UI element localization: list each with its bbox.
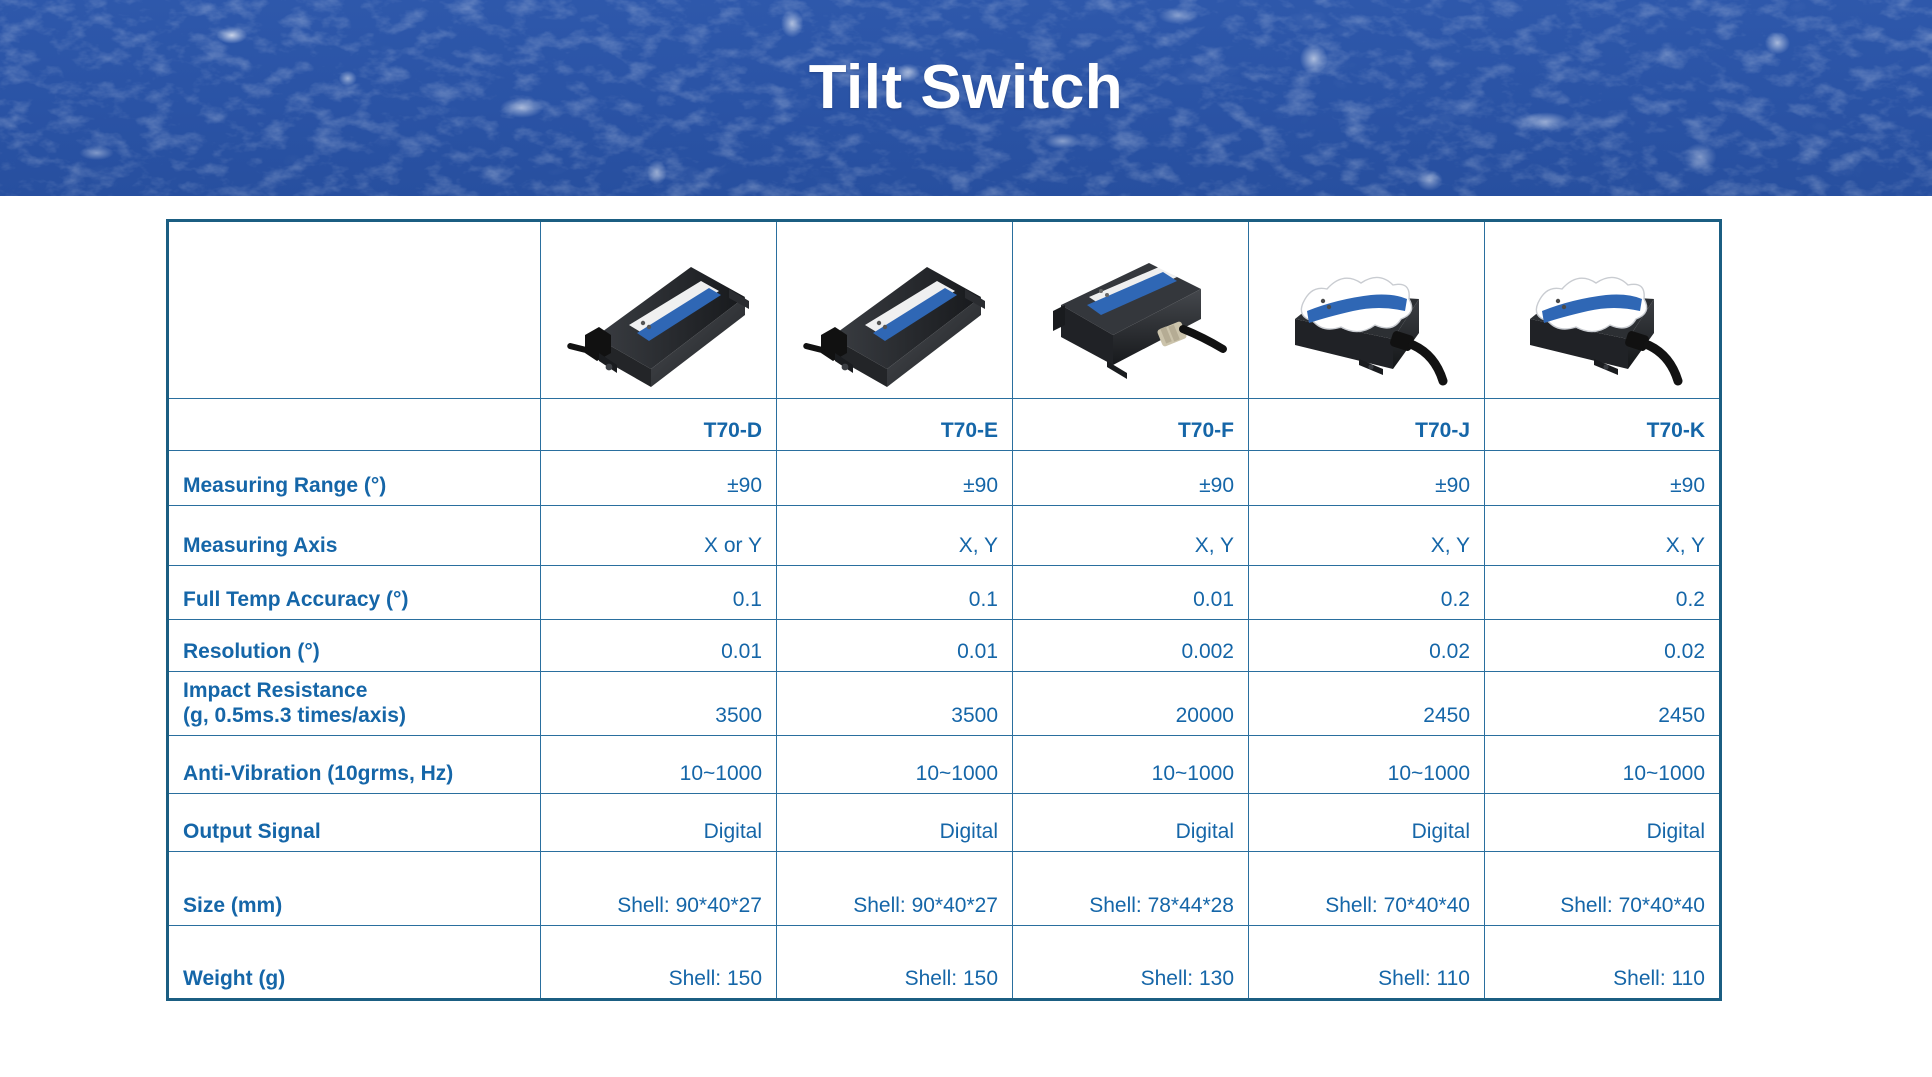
value-output-signal-1: Digital [777, 794, 1013, 852]
value-impact-resistance-0: 3500 [541, 672, 777, 736]
row-label-weight: Weight (g) [168, 926, 541, 1000]
value-measuring-range-0: ±90 [541, 451, 777, 506]
spec-table-container: T70-D T70-E T70-F T70-J T70-K Measuring … [166, 219, 1719, 1001]
value-anti-vibration-4: 10~1000 [1485, 736, 1721, 794]
value-weight-0: Shell: 150 [541, 926, 777, 1000]
value-size-4: Shell: 70*40*40 [1485, 852, 1721, 926]
value-full-temp-accuracy-4: 0.2 [1485, 566, 1721, 620]
value-weight-1: Shell: 150 [777, 926, 1013, 1000]
value-full-temp-accuracy-1: 0.1 [777, 566, 1013, 620]
value-anti-vibration-2: 10~1000 [1013, 736, 1249, 794]
tilt-switch-t70j-photo [1267, 241, 1467, 391]
value-resolution-0: 0.01 [541, 620, 777, 672]
image-row-blank-cell [168, 221, 541, 399]
row-label-resolution: Resolution (°) [168, 620, 541, 672]
value-measuring-range-3: ±90 [1249, 451, 1485, 506]
value-full-temp-accuracy-3: 0.2 [1249, 566, 1485, 620]
value-measuring-axis-0: X or Y [541, 506, 777, 566]
tilt-switch-t70d-photo [559, 241, 759, 391]
value-weight-3: Shell: 110 [1249, 926, 1485, 1000]
product-image-t70k [1485, 221, 1721, 399]
row-label-impact-resistance-line1: Impact Resistance [183, 679, 367, 702]
spec-row-full-temp-accuracy: Full Temp Accuracy (°) 0.1 0.1 0.01 0.2 … [168, 566, 1721, 620]
model-name-3: T70-J [1249, 399, 1485, 451]
page-banner: Tilt Switch [0, 0, 1932, 196]
value-output-signal-2: Digital [1013, 794, 1249, 852]
value-anti-vibration-1: 10~1000 [777, 736, 1013, 794]
spec-comparison-table: T70-D T70-E T70-F T70-J T70-K Measuring … [166, 219, 1722, 1001]
value-full-temp-accuracy-2: 0.01 [1013, 566, 1249, 620]
row-label-measuring-axis: Measuring Axis [168, 506, 541, 566]
value-anti-vibration-0: 10~1000 [541, 736, 777, 794]
model-name-2: T70-F [1013, 399, 1249, 451]
value-impact-resistance-4: 2450 [1485, 672, 1721, 736]
spec-row-measuring-axis: Measuring Axis X or Y X, Y X, Y X, Y X, … [168, 506, 1721, 566]
row-label-size: Size (mm) [168, 852, 541, 926]
value-impact-resistance-2: 20000 [1013, 672, 1249, 736]
model-name-4: T70-K [1485, 399, 1721, 451]
product-image-t70d [541, 221, 777, 399]
spec-row-measuring-range: Measuring Range (°) ±90 ±90 ±90 ±90 ±90 [168, 451, 1721, 506]
product-image-row [168, 221, 1721, 399]
value-measuring-axis-2: X, Y [1013, 506, 1249, 566]
model-row-blank-cell [168, 399, 541, 451]
value-output-signal-3: Digital [1249, 794, 1485, 852]
value-impact-resistance-1: 3500 [777, 672, 1013, 736]
model-name-row: T70-D T70-E T70-F T70-J T70-K [168, 399, 1721, 451]
product-image-t70e [777, 221, 1013, 399]
value-impact-resistance-3: 2450 [1249, 672, 1485, 736]
value-measuring-axis-4: X, Y [1485, 506, 1721, 566]
value-resolution-3: 0.02 [1249, 620, 1485, 672]
spec-row-size: Size (mm) Shell: 90*40*27 Shell: 90*40*2… [168, 852, 1721, 926]
row-label-measuring-range: Measuring Range (°) [168, 451, 541, 506]
spec-row-anti-vibration: Anti-Vibration (10grms, Hz) 10~1000 10~1… [168, 736, 1721, 794]
value-resolution-2: 0.002 [1013, 620, 1249, 672]
row-label-full-temp-accuracy: Full Temp Accuracy (°) [168, 566, 541, 620]
value-output-signal-4: Digital [1485, 794, 1721, 852]
value-measuring-axis-3: X, Y [1249, 506, 1485, 566]
spec-row-output-signal: Output Signal Digital Digital Digital Di… [168, 794, 1721, 852]
value-measuring-range-1: ±90 [777, 451, 1013, 506]
value-size-0: Shell: 90*40*27 [541, 852, 777, 926]
product-image-t70j [1249, 221, 1485, 399]
value-size-1: Shell: 90*40*27 [777, 852, 1013, 926]
tilt-switch-t70e-photo [795, 241, 995, 391]
value-weight-4: Shell: 110 [1485, 926, 1721, 1000]
tilt-switch-t70f-photo [1031, 241, 1231, 391]
row-label-output-signal: Output Signal [168, 794, 541, 852]
value-resolution-4: 0.02 [1485, 620, 1721, 672]
row-label-impact-resistance: Impact Resistance (g, 0.5ms.3 times/axis… [168, 672, 541, 736]
spec-row-resolution: Resolution (°) 0.01 0.01 0.002 0.02 0.02 [168, 620, 1721, 672]
row-label-impact-resistance-line2: (g, 0.5ms.3 times/axis) [183, 704, 406, 727]
tilt-switch-t70k-photo [1502, 241, 1702, 391]
model-name-1: T70-E [777, 399, 1013, 451]
spec-row-impact-resistance: Impact Resistance (g, 0.5ms.3 times/axis… [168, 672, 1721, 736]
value-full-temp-accuracy-0: 0.1 [541, 566, 777, 620]
value-output-signal-0: Digital [541, 794, 777, 852]
page-root: Tilt Switch [0, 0, 1932, 1077]
row-label-anti-vibration: Anti-Vibration (10grms, Hz) [168, 736, 541, 794]
value-anti-vibration-3: 10~1000 [1249, 736, 1485, 794]
page-title: Tilt Switch [0, 52, 1932, 123]
value-resolution-1: 0.01 [777, 620, 1013, 672]
value-measuring-range-4: ±90 [1485, 451, 1721, 506]
model-name-0: T70-D [541, 399, 777, 451]
value-size-3: Shell: 70*40*40 [1249, 852, 1485, 926]
value-size-2: Shell: 78*44*28 [1013, 852, 1249, 926]
value-measuring-range-2: ±90 [1013, 451, 1249, 506]
value-measuring-axis-1: X, Y [777, 506, 1013, 566]
spec-row-weight: Weight (g) Shell: 150 Shell: 150 Shell: … [168, 926, 1721, 1000]
value-weight-2: Shell: 130 [1013, 926, 1249, 1000]
product-image-t70f [1013, 221, 1249, 399]
